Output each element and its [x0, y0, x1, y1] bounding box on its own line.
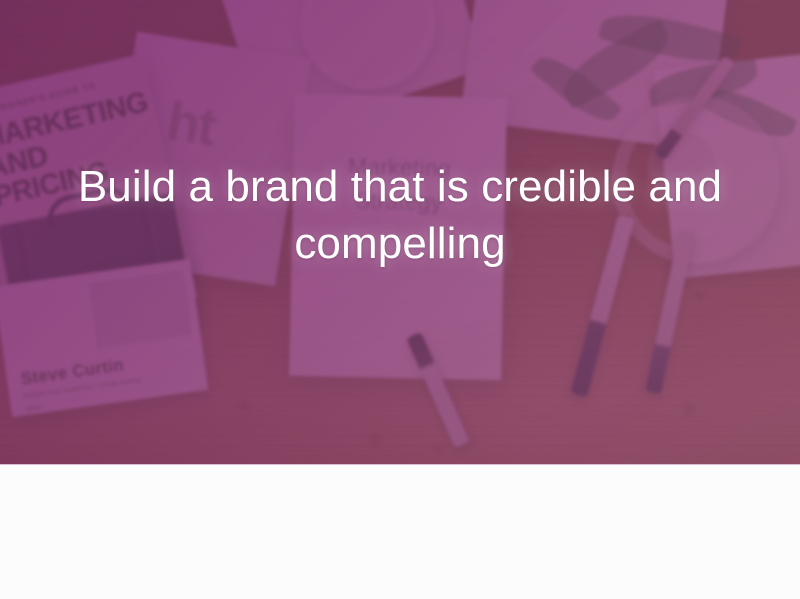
promo-card: ht A DESIGNER'S GUIDE TO MARKETING AND P… — [0, 0, 800, 599]
caption-bar: Brand Strategy and Marketing Comms — [0, 464, 800, 599]
hero-headline: Build a brand that is credible and compe… — [0, 158, 800, 272]
hero-banner: ht A DESIGNER'S GUIDE TO MARKETING AND P… — [0, 0, 800, 464]
